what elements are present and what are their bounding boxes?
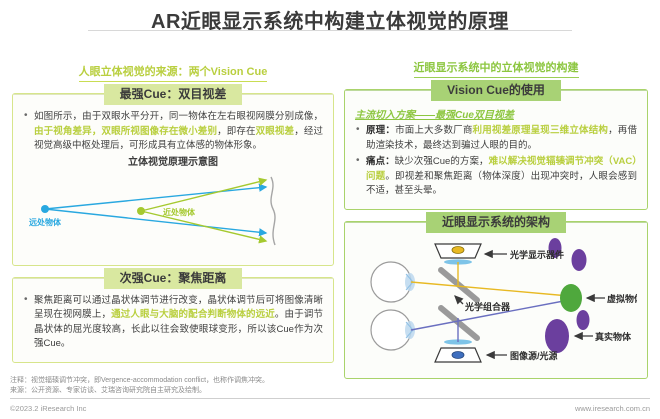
right-column-heading: 近眼显示系统中的立体视觉的构建 — [414, 61, 579, 78]
list-item: 原理：市面上大多数厂商利用视差原理呈现三维立体结构，再借助渲染技术，最终达到骗过… — [355, 124, 637, 153]
right-column: 近眼显示系统中的立体视觉的构建 Vision Cue的使用 主流切入方案——最强… — [344, 58, 648, 379]
rich-text: 聚焦距离可以通过晶状体调节进行改变，晶状体调节后可将图像清晰呈现在视网膜上，通过… — [34, 295, 323, 350]
page-title-wrap: AR近眼显示系统中构建立体视觉的原理 — [0, 8, 660, 36]
ray-display-to-virtual — [411, 282, 569, 296]
right-card-vision-cue-usage: Vision Cue的使用 主流切入方案——最强Cue双目视差 原理：市面上大多… — [344, 89, 648, 210]
text-run: 缺少次强Cue的方案， — [395, 156, 489, 167]
left-column: 人眼立体视觉的来源：两个Vision Cue 最强Cue：双目视差 如图所示，由… — [12, 62, 334, 363]
list-item: 如图所示，由于双眼水平分开，同一物体在左右眼视网膜分别成像，由于视角差异，双眼所… — [23, 110, 323, 154]
text-run: 市面上大多数厂商 — [395, 125, 472, 136]
right-card2-body: 光学显示器件 光学组合器 图像源/光源 虚拟物体 真实物体 — [345, 222, 647, 378]
list-item: 痛点：缺少次强Cue的方案，难以解决视觉辐辏调节冲突（VAC）问题。即视差和聚焦… — [355, 155, 637, 199]
left-diagram-caption: 立体视觉原理示意图 — [23, 156, 323, 169]
ray-far-upper — [45, 187, 266, 209]
right-column-heading-row: 近眼显示系统中的立体视觉的构建 — [344, 58, 648, 78]
real-object-blob-2 — [572, 249, 587, 271]
left-card2-bullets: 聚焦距离可以通过晶状体调节进行改变，晶状体调节后可将图像清晰呈现在视网膜上，通过… — [23, 294, 323, 352]
text-run: 双眼视差 — [256, 126, 295, 137]
neareye-architecture-svg: 光学显示器件 光学组合器 图像源/光源 虚拟物体 真实物体 — [355, 238, 637, 368]
real-object-blob-4 — [545, 319, 569, 353]
title-divider — [88, 30, 572, 31]
text-run: 。即视差和聚焦距离（物体深度）出现冲突时，人眼会感到不适，甚至头晕。 — [366, 171, 637, 197]
ray-near-lower — [141, 211, 266, 241]
arrow-combiner-label — [455, 296, 463, 304]
text-run: ，即存在 — [217, 126, 256, 137]
text-run: 如图所示，由于双眼水平分开，同一物体在左右眼视网膜分别成像， — [34, 111, 323, 122]
footer-divider — [10, 398, 650, 399]
near-object-point — [137, 207, 145, 215]
image-source-label: 图像源/光源 — [510, 350, 558, 361]
neareye-architecture-diagram: 光学显示器件 光学组合器 图像源/光源 虚拟物体 真实物体 — [355, 238, 637, 370]
eye-upper — [371, 262, 415, 302]
real-object-blob-3 — [577, 310, 590, 330]
rich-text: 痛点：缺少次强Cue的方案，难以解决视觉辐辏调节冲突（VAC）问题。即视差和聚焦… — [366, 156, 637, 196]
text-run: 由于视角差异，双眼所视图像存在微小差别 — [34, 126, 217, 137]
image-source-icon — [435, 339, 481, 362]
right-card1-bullets: 原理：市面上大多数厂商利用视差原理呈现三维立体结构，再借助渲染技术，最终达到骗过… — [355, 124, 637, 199]
left-column-heading-row: 人眼立体视觉的来源：两个Vision Cue — [12, 62, 334, 82]
text-run: 痛点： — [366, 156, 395, 167]
slide-root: AR近眼显示系统中构建立体视觉的原理 人眼立体视觉的来源：两个Vision Cu… — [0, 0, 660, 419]
text-run: 原理： — [366, 125, 395, 136]
footer-note: 注释：视觉辐辏调节冲突，即Vergence-accommodation conf… — [10, 376, 650, 386]
optical-display-device-icon — [435, 244, 481, 265]
retina-curve — [271, 177, 275, 245]
footer-row: ©2023.2 iResearch Inc www.iresearch.com.… — [10, 404, 650, 413]
virtual-object-label: 虚拟物体 — [607, 293, 637, 304]
footer-copyright: ©2023.2 iResearch Inc — [10, 404, 86, 413]
right-card-system-architecture: 近眼显示系统的架构 — [344, 221, 648, 379]
far-object-point — [41, 205, 49, 213]
left-card-focus-distance: 次强Cue：聚焦距离 聚焦距离可以通过晶状体调节进行改变，晶状体调节后可将图像清… — [12, 277, 334, 363]
virtual-object-shape — [560, 284, 582, 312]
near-object-label: 近处物体 — [163, 207, 196, 217]
ray-far-lower — [45, 209, 266, 233]
right-card1-lead: 主流切入方案——最强Cue双目视差 — [355, 106, 637, 121]
footer-website[interactable]: www.iresearch.com.cn — [575, 404, 650, 413]
left-card2-body: 聚焦距离可以通过晶状体调节进行改变，晶状体调节后可将图像清晰呈现在视网膜上，通过… — [13, 278, 333, 362]
footer: 注释：视觉辐辏调节冲突，即Vergence-accommodation conf… — [10, 376, 650, 413]
text-run: 通过人眼与大脑的配合判断物体的远近 — [111, 309, 275, 320]
stereo-vision-svg: 远处物体 近处物体 — [23, 171, 323, 255]
eye-lower — [371, 310, 415, 350]
left-card1-bullets: 如图所示，由于双眼水平分开，同一物体在左右眼视网膜分别成像，由于视角差异，双眼所… — [23, 110, 323, 154]
rich-text: 如图所示，由于双眼水平分开，同一物体在左右眼视网膜分别成像，由于视角差异，双眼所… — [34, 111, 323, 151]
page-title: AR近眼显示系统中构建立体视觉的原理 — [0, 8, 660, 36]
optical-combiner-label: 光学组合器 — [464, 301, 511, 312]
ray-near-upper — [141, 180, 266, 211]
right-card1-body: 主流切入方案——最强Cue双目视差 原理：市面上大多数厂商利用视差原理呈现三维立… — [345, 90, 647, 209]
left-card-binocular-parallax: 最强Cue：双目视差 如图所示，由于双眼水平分开，同一物体在左右眼视网膜分别成像… — [12, 93, 334, 266]
rich-text: 原理：市面上大多数厂商利用视差原理呈现三维立体结构，再借助渲染技术，最终达到骗过… — [366, 125, 637, 151]
list-item: 聚焦距离可以通过晶状体调节进行改变，晶状体调节后可将图像清晰呈现在视网膜上，通过… — [23, 294, 323, 352]
text-run: 利用视差原理呈现三维立体结构 — [473, 125, 609, 136]
footer-source: 来源：公开资源、专家访谈、艾瑞咨询研究院自主研究及绘制。 — [10, 386, 650, 396]
left-card1-body: 如图所示，由于双眼水平分开，同一物体在左右眼视网膜分别成像，由于视角差异，双眼所… — [13, 94, 333, 265]
real-object-label: 真实物体 — [595, 331, 632, 342]
stereo-vision-diagram: 远处物体 近处物体 — [23, 171, 323, 257]
far-object-label: 远处物体 — [29, 217, 62, 227]
optical-display-device-label: 光学显示器件 — [509, 249, 564, 260]
left-column-heading: 人眼立体视觉的来源：两个Vision Cue — [79, 65, 268, 82]
